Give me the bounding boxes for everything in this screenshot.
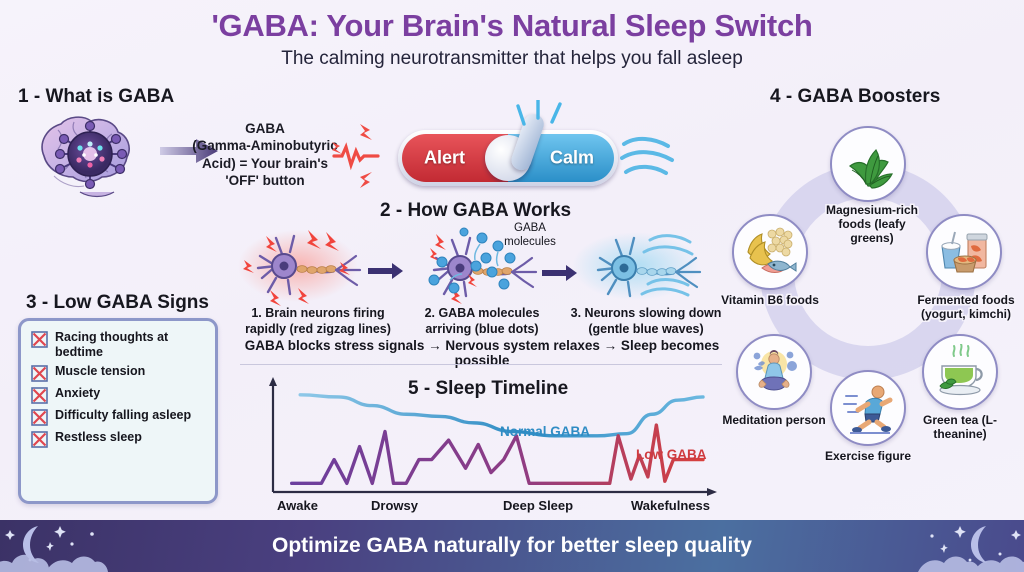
red-x-checkbox-icon[interactable] [31,387,48,404]
section-3-heading: 3 - Low GABA Signs [26,292,209,314]
toggle-track-inner: Alert Calm [402,134,614,182]
yogurt-kimchi-icon [936,224,992,280]
booster-exercise-label: Exercise figure [812,450,924,464]
spark-icon [512,100,572,140]
leafy-greens-icon [840,136,896,192]
low-gaba-signs-list: Racing thoughts at bedtime Muscle tensio… [18,318,218,504]
toggle-calm-label: Calm [550,148,594,169]
section-divider [240,364,722,365]
list-item[interactable]: Anxiety [31,386,207,404]
step-2-caption: 2. GABA molecules arriving (blue dots) [400,306,564,337]
list-item-label: Difficulty falling asleep [55,408,191,423]
section-1-heading: 1 - What is GABA [18,86,174,108]
green-tea-cup-icon [932,344,988,400]
gaba-molecules-label: GABA molecules [488,222,572,250]
booster-vitamin-b6[interactable] [732,214,808,290]
normal-gaba-series-label: Normal GABA [500,424,590,439]
gaba-definition: GABA (Gamma-Aminobutyric Acid) = Your br… [190,120,340,189]
sleep-timeline-chart [255,376,725,510]
infographic-canvas: 'GABA: Your Brain's Natural Sleep Switch… [0,0,1024,572]
chart-x-tick-labels: Awake Drowsy Deep Sleep Wakefulness [255,498,725,516]
red-x-checkbox-icon[interactable] [31,431,48,448]
footer-banner: Optimize GABA naturally for better sleep… [0,520,1024,572]
booster-magnesium[interactable] [830,126,906,202]
page-subtitle: The calming neurotransmitter that helps … [0,48,1024,70]
toggle-alert-label: Alert [424,148,465,169]
calm-waves-icon [620,130,690,186]
list-item[interactable]: Difficulty falling asleep [31,408,207,426]
meditation-icon [746,344,802,400]
red-x-checkbox-icon[interactable] [31,331,48,348]
booster-fermented[interactable] [926,214,1002,290]
step-3-caption: 3. Neurons slowing down (gentle blue wav… [564,306,728,337]
list-item-label: Racing thoughts at bedtime [55,330,207,360]
booster-exercise[interactable] [830,370,906,446]
gaba-definition-head: GABA [190,120,340,137]
x-tick-drowsy: Drowsy [371,498,418,513]
alert-calm-toggle[interactable]: Alert Calm [392,104,624,200]
list-item[interactable]: Restless sleep [31,430,207,448]
chart-x-arrowhead [707,488,717,496]
section-2-captions: 1. Brain neurons firing rapidly (red zig… [236,306,728,337]
x-tick-deep-sleep: Deep Sleep [503,498,573,513]
step-1-caption: 1. Brain neurons firing rapidly (red zig… [236,306,400,337]
red-x-checkbox-icon[interactable] [31,365,48,382]
x-tick-awake: Awake [277,498,318,513]
neuron-firing-icon [238,230,360,306]
list-item-label: Restless sleep [55,430,142,445]
gaba-boosters-ring: Magnesium-rich foods (leafy greens) [718,108,1018,506]
banana-fish-chickpea-icon [742,224,798,280]
list-item[interactable]: Racing thoughts at bedtime [31,330,207,360]
red-zigzag-icon [330,120,386,192]
list-item[interactable]: Muscle tension [31,364,207,382]
toggle-track[interactable]: Alert Calm [398,130,618,186]
booster-vitamin-b6-label: Vitamin B6 foods [714,294,826,308]
low-gaba-series-label: Low GABA [636,447,707,462]
footer-text: Optimize GABA naturally for better sleep… [0,520,1024,572]
red-x-checkbox-icon[interactable] [31,409,48,426]
booster-green-tea[interactable] [922,334,998,410]
gaba-definition-body: (Gamma-Aminobutyric Acid) = Your brain's… [192,138,338,188]
running-figure-icon [840,380,896,436]
chart-y-arrowhead [269,377,277,386]
booster-green-tea-label: Green tea (L-theanine) [904,414,1016,442]
neuron-sequence [236,222,728,308]
list-item-label: Anxiety [55,386,100,401]
list-item-label: Muscle tension [55,364,145,379]
section-2-heading: 2 - How GABA Works [380,200,571,222]
booster-meditation-label: Meditation person [718,414,830,428]
booster-meditation[interactable] [736,334,812,410]
section-4-heading: 4 - GABA Boosters [770,86,940,108]
booster-magnesium-label: Magnesium-rich foods (leafy greens) [816,204,928,245]
brain-network-icon [28,108,156,200]
booster-fermented-label: Fermented foods (yogurt, kimchi) [910,294,1022,322]
neuron-calm-icon [572,232,700,300]
page-title: 'GABA: Your Brain's Natural Sleep Switch [0,8,1024,44]
x-tick-wakefulness: Wakefulness [631,498,710,513]
